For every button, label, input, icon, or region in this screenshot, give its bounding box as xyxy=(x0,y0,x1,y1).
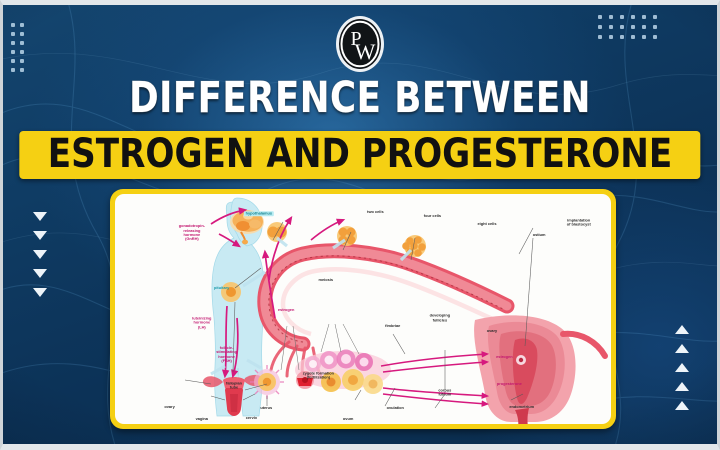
diagram-label-ovary-left: ovary xyxy=(164,405,174,409)
triangle-down-icon-group xyxy=(33,212,47,297)
diagram-label-estrogen-right: estrogen xyxy=(496,355,512,359)
diagram-label-eight-cells: eight cells xyxy=(477,222,496,226)
diagram-label-corpus-luteum: corpus luteum xyxy=(438,389,451,398)
diagram-label-fallopian-tube: fallopian tube xyxy=(226,382,242,391)
blastocyst-implantation-site xyxy=(516,355,526,365)
diagram-label-vagina: vagina xyxy=(196,417,208,421)
diagram-frame: hypothalamusgonadotropin- releasing horm… xyxy=(110,189,616,429)
infographic-canvas: P W DIFFERENCE BETWEEN ESTROGEN AND PROG… xyxy=(0,0,720,450)
triangle-down-icon xyxy=(33,231,47,240)
ovum-illustration xyxy=(250,365,284,399)
diagram-label-hypothalamus: hypothalamus xyxy=(244,211,274,216)
triangle-up-icon-group xyxy=(675,325,689,410)
triangle-up-icon xyxy=(675,344,689,353)
diagram-label-cervix: cervix xyxy=(246,416,257,420)
diagram-label-ovulation: ovulation xyxy=(387,406,404,410)
triangle-up-icon xyxy=(675,363,689,372)
triangle-down-icon xyxy=(33,269,47,278)
triangle-up-icon xyxy=(675,382,689,391)
pw-logo: P W xyxy=(332,14,388,74)
triangle-down-icon xyxy=(33,250,47,259)
diagram-label-implantation: implantation of blastocyst xyxy=(567,218,591,227)
diagram-label-estrogen-left: estrogen xyxy=(278,308,294,312)
diagram-label-zygote: zygote formation (fertilization) xyxy=(303,371,334,380)
diagram-label-dev-follicles: developing follicles xyxy=(430,314,451,323)
page-title: DIFFERENCE BETWEEN xyxy=(32,75,689,121)
estrogen-progesterone-arrows xyxy=(381,354,487,404)
diagram-label-lh: luteinizing hormone (LH) xyxy=(192,316,211,329)
subtitle-banner: ESTROGEN AND PROGESTERONE xyxy=(19,131,700,179)
diagram-label-uterus: uterus xyxy=(260,406,272,410)
diagram-label-pituitary: pituitary xyxy=(214,286,229,290)
diagram-label-two-cells: two cells xyxy=(367,210,383,214)
diagram-canvas: hypothalamusgonadotropin- releasing horm… xyxy=(115,194,611,424)
diagram-label-ostium: ostium xyxy=(533,233,546,237)
fallopian-tube-illustration xyxy=(265,251,507,344)
triangle-down-icon xyxy=(33,212,47,221)
triangle-down-icon xyxy=(33,288,47,297)
diagram-label-four-cells: four cells xyxy=(424,214,441,218)
triangle-up-icon xyxy=(675,325,689,334)
diagram-label-fimbriae: fimbriae xyxy=(385,324,400,328)
diagram-label-progesterone: progesterone xyxy=(497,382,522,386)
diagram-label-fsh: follicle- stimulating hormone (FSH) xyxy=(216,346,237,364)
dot-grid-icon-top-right xyxy=(598,15,657,39)
logo-letter-w: W xyxy=(355,39,376,64)
diagram-label-gnrh: gonadotropin- releasing hormone (GnRH) xyxy=(179,224,205,242)
diagram-label-ovary-right: ovary xyxy=(487,329,497,333)
diagram-label-ovum: ovum xyxy=(343,417,353,421)
dot-grid-icon-top-left xyxy=(11,23,24,72)
triangle-up-icon xyxy=(675,401,689,410)
diagram-label-meiosis: meiosis xyxy=(319,278,334,282)
page-subtitle: ESTROGEN AND PROGESTERONE xyxy=(48,134,672,174)
diagram-label-endometrium: endometrium xyxy=(509,405,534,409)
